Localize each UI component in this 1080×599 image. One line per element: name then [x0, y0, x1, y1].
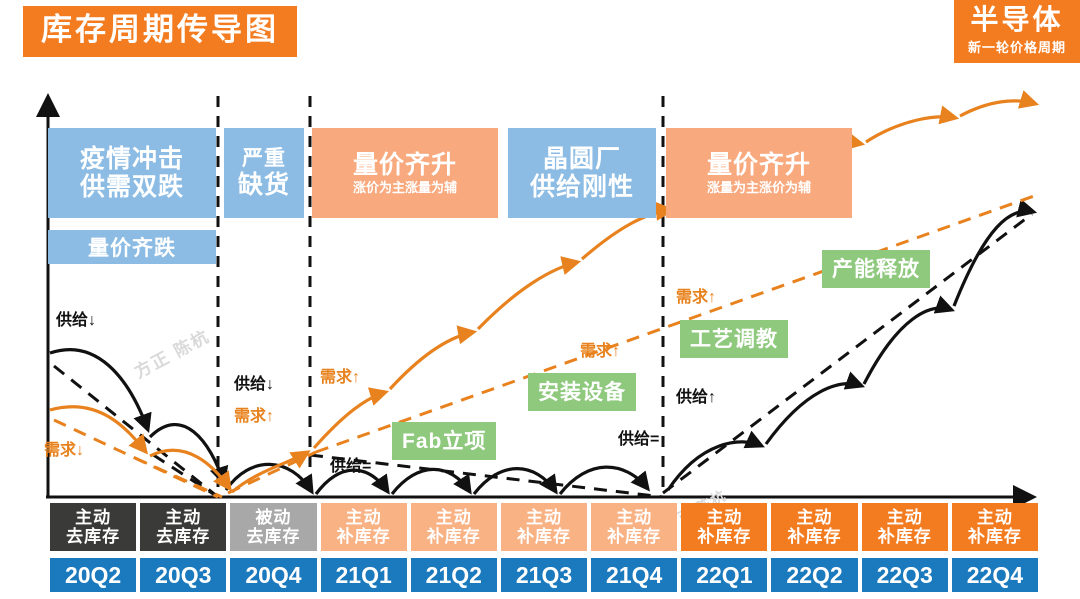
- phase-sub-box-label: 量价齐跌: [88, 232, 176, 262]
- inventory-phase-line2: 补库存: [697, 527, 751, 546]
- inventory-phase-line1: 被动: [255, 508, 291, 527]
- inventory-phase-line1: 主动: [706, 508, 742, 527]
- phase-pandemic-line2: 供需双跌: [80, 173, 184, 201]
- inventory-phase-cell[interactable]: 主动去库存: [50, 503, 136, 551]
- inventory-phase-cell[interactable]: 主动补库存: [321, 503, 407, 551]
- inventory-phase-line1: 主动: [346, 508, 382, 527]
- phase-price-vol-up-1: 量价齐升涨价为主涨量为辅: [312, 128, 498, 218]
- phase-pandemic-line1: 疫情冲击: [80, 145, 184, 173]
- phase-fab-rigidity: 晶圆厂供给刚性: [508, 128, 656, 218]
- quarter-cell[interactable]: 21Q1: [321, 558, 407, 592]
- quarter-cell[interactable]: 22Q1: [681, 558, 767, 592]
- phase-fab-rigidity-line2: 供给刚性: [530, 173, 634, 201]
- phase-fab-rigidity-line1: 晶圆厂: [543, 145, 621, 173]
- anno-supply-up-1: 供给↑: [676, 383, 716, 407]
- inventory-phase-line2: 补库存: [968, 527, 1022, 546]
- quarter-cell[interactable]: 22Q3: [862, 558, 948, 592]
- tag-install-equip: 安装设备: [528, 373, 636, 411]
- anno-supply-flat-2: 供给=: [618, 425, 659, 449]
- inventory-phase-cell[interactable]: 主动补库存: [952, 503, 1038, 551]
- inventory-phase-line1: 主动: [977, 508, 1013, 527]
- anno-supply-down-2: 供给↓: [234, 370, 274, 394]
- tag-capacity-release: 产能释放: [822, 250, 930, 288]
- inventory-phase-line2: 补库存: [878, 527, 932, 546]
- phase-price-vol-up-1-line1: 量价齐升: [353, 151, 457, 179]
- anno-demand-up-1: 需求↑: [234, 402, 274, 426]
- quarter-cell[interactable]: 21Q4: [591, 558, 677, 592]
- quarter-cell[interactable]: 21Q2: [411, 558, 497, 592]
- tag-process-tuning: 工艺调教: [680, 320, 788, 358]
- phase-shortage-line1: 严重: [242, 147, 286, 171]
- anno-supply-flat-1: 供给=: [330, 452, 371, 476]
- anno-demand-up-4: 需求↑: [676, 283, 716, 307]
- quarter-cell[interactable]: 21Q3: [501, 558, 587, 592]
- quarter-cell[interactable]: 22Q2: [771, 558, 857, 592]
- inventory-phase-cell[interactable]: 主动补库存: [591, 503, 677, 551]
- quarter-cell[interactable]: 22Q4: [952, 558, 1038, 592]
- inventory-phase-line2: 去库存: [246, 527, 300, 546]
- inventory-phase-line2: 补库存: [788, 527, 842, 546]
- inventory-phase-line1: 主动: [616, 508, 652, 527]
- inventory-phase-cell[interactable]: 主动补库存: [771, 503, 857, 551]
- anno-supply-down-1: 供给↓: [56, 306, 96, 330]
- inventory-phase-line1: 主动: [887, 508, 923, 527]
- phase-sub-box: 量价齐跌: [48, 230, 216, 264]
- inventory-phase-line1: 主动: [526, 508, 562, 527]
- phase-shortage: 严重缺货: [224, 128, 304, 218]
- quarter-cell[interactable]: 20Q4: [230, 558, 316, 592]
- tag-fab-project: Fab立项: [392, 422, 496, 460]
- anno-demand-up-3: 需求↑: [580, 337, 620, 361]
- inventory-phase-cell[interactable]: 主动补库存: [411, 503, 497, 551]
- phase-price-vol-up-2: 量价齐升涨量为主涨价为辅: [666, 128, 852, 218]
- inventory-phase-line2: 补库存: [427, 527, 481, 546]
- phase-price-vol-up-1-sub: 涨价为主涨量为辅: [353, 181, 457, 196]
- inventory-phase-cell[interactable]: 被动去库存: [230, 503, 316, 551]
- phase-pandemic: 疫情冲击供需双跌: [48, 128, 216, 218]
- inventory-phase-cell[interactable]: 主动补库存: [681, 503, 767, 551]
- inventory-phase-line1: 主动: [436, 508, 472, 527]
- inventory-phase-line2: 去库存: [156, 527, 210, 546]
- inventory-phase-line2: 去库存: [66, 527, 120, 546]
- inventory-phase-line1: 主动: [165, 508, 201, 527]
- phase-price-vol-up-2-sub: 涨量为主涨价为辅: [707, 181, 811, 196]
- inventory-phase-line2: 补库存: [517, 527, 571, 546]
- inventory-phase-cell[interactable]: 主动补库存: [862, 503, 948, 551]
- quarter-cell[interactable]: 20Q3: [140, 558, 226, 592]
- anno-demand-down-1: 需求↓: [44, 436, 84, 460]
- inventory-phase-cell[interactable]: 主动补库存: [501, 503, 587, 551]
- quarter-cell[interactable]: 20Q2: [50, 558, 136, 592]
- inventory-phase-line2: 补库存: [607, 527, 661, 546]
- inventory-phase-line1: 主动: [75, 508, 111, 527]
- inventory-phase-cell[interactable]: 主动去库存: [140, 503, 226, 551]
- inventory-phase-line2: 补库存: [337, 527, 391, 546]
- inventory-phase-line1: 主动: [797, 508, 833, 527]
- anno-demand-up-2: 需求↑: [320, 363, 360, 387]
- phase-price-vol-up-2-line1: 量价齐升: [707, 151, 811, 179]
- phase-shortage-line2: 缺货: [238, 171, 290, 199]
